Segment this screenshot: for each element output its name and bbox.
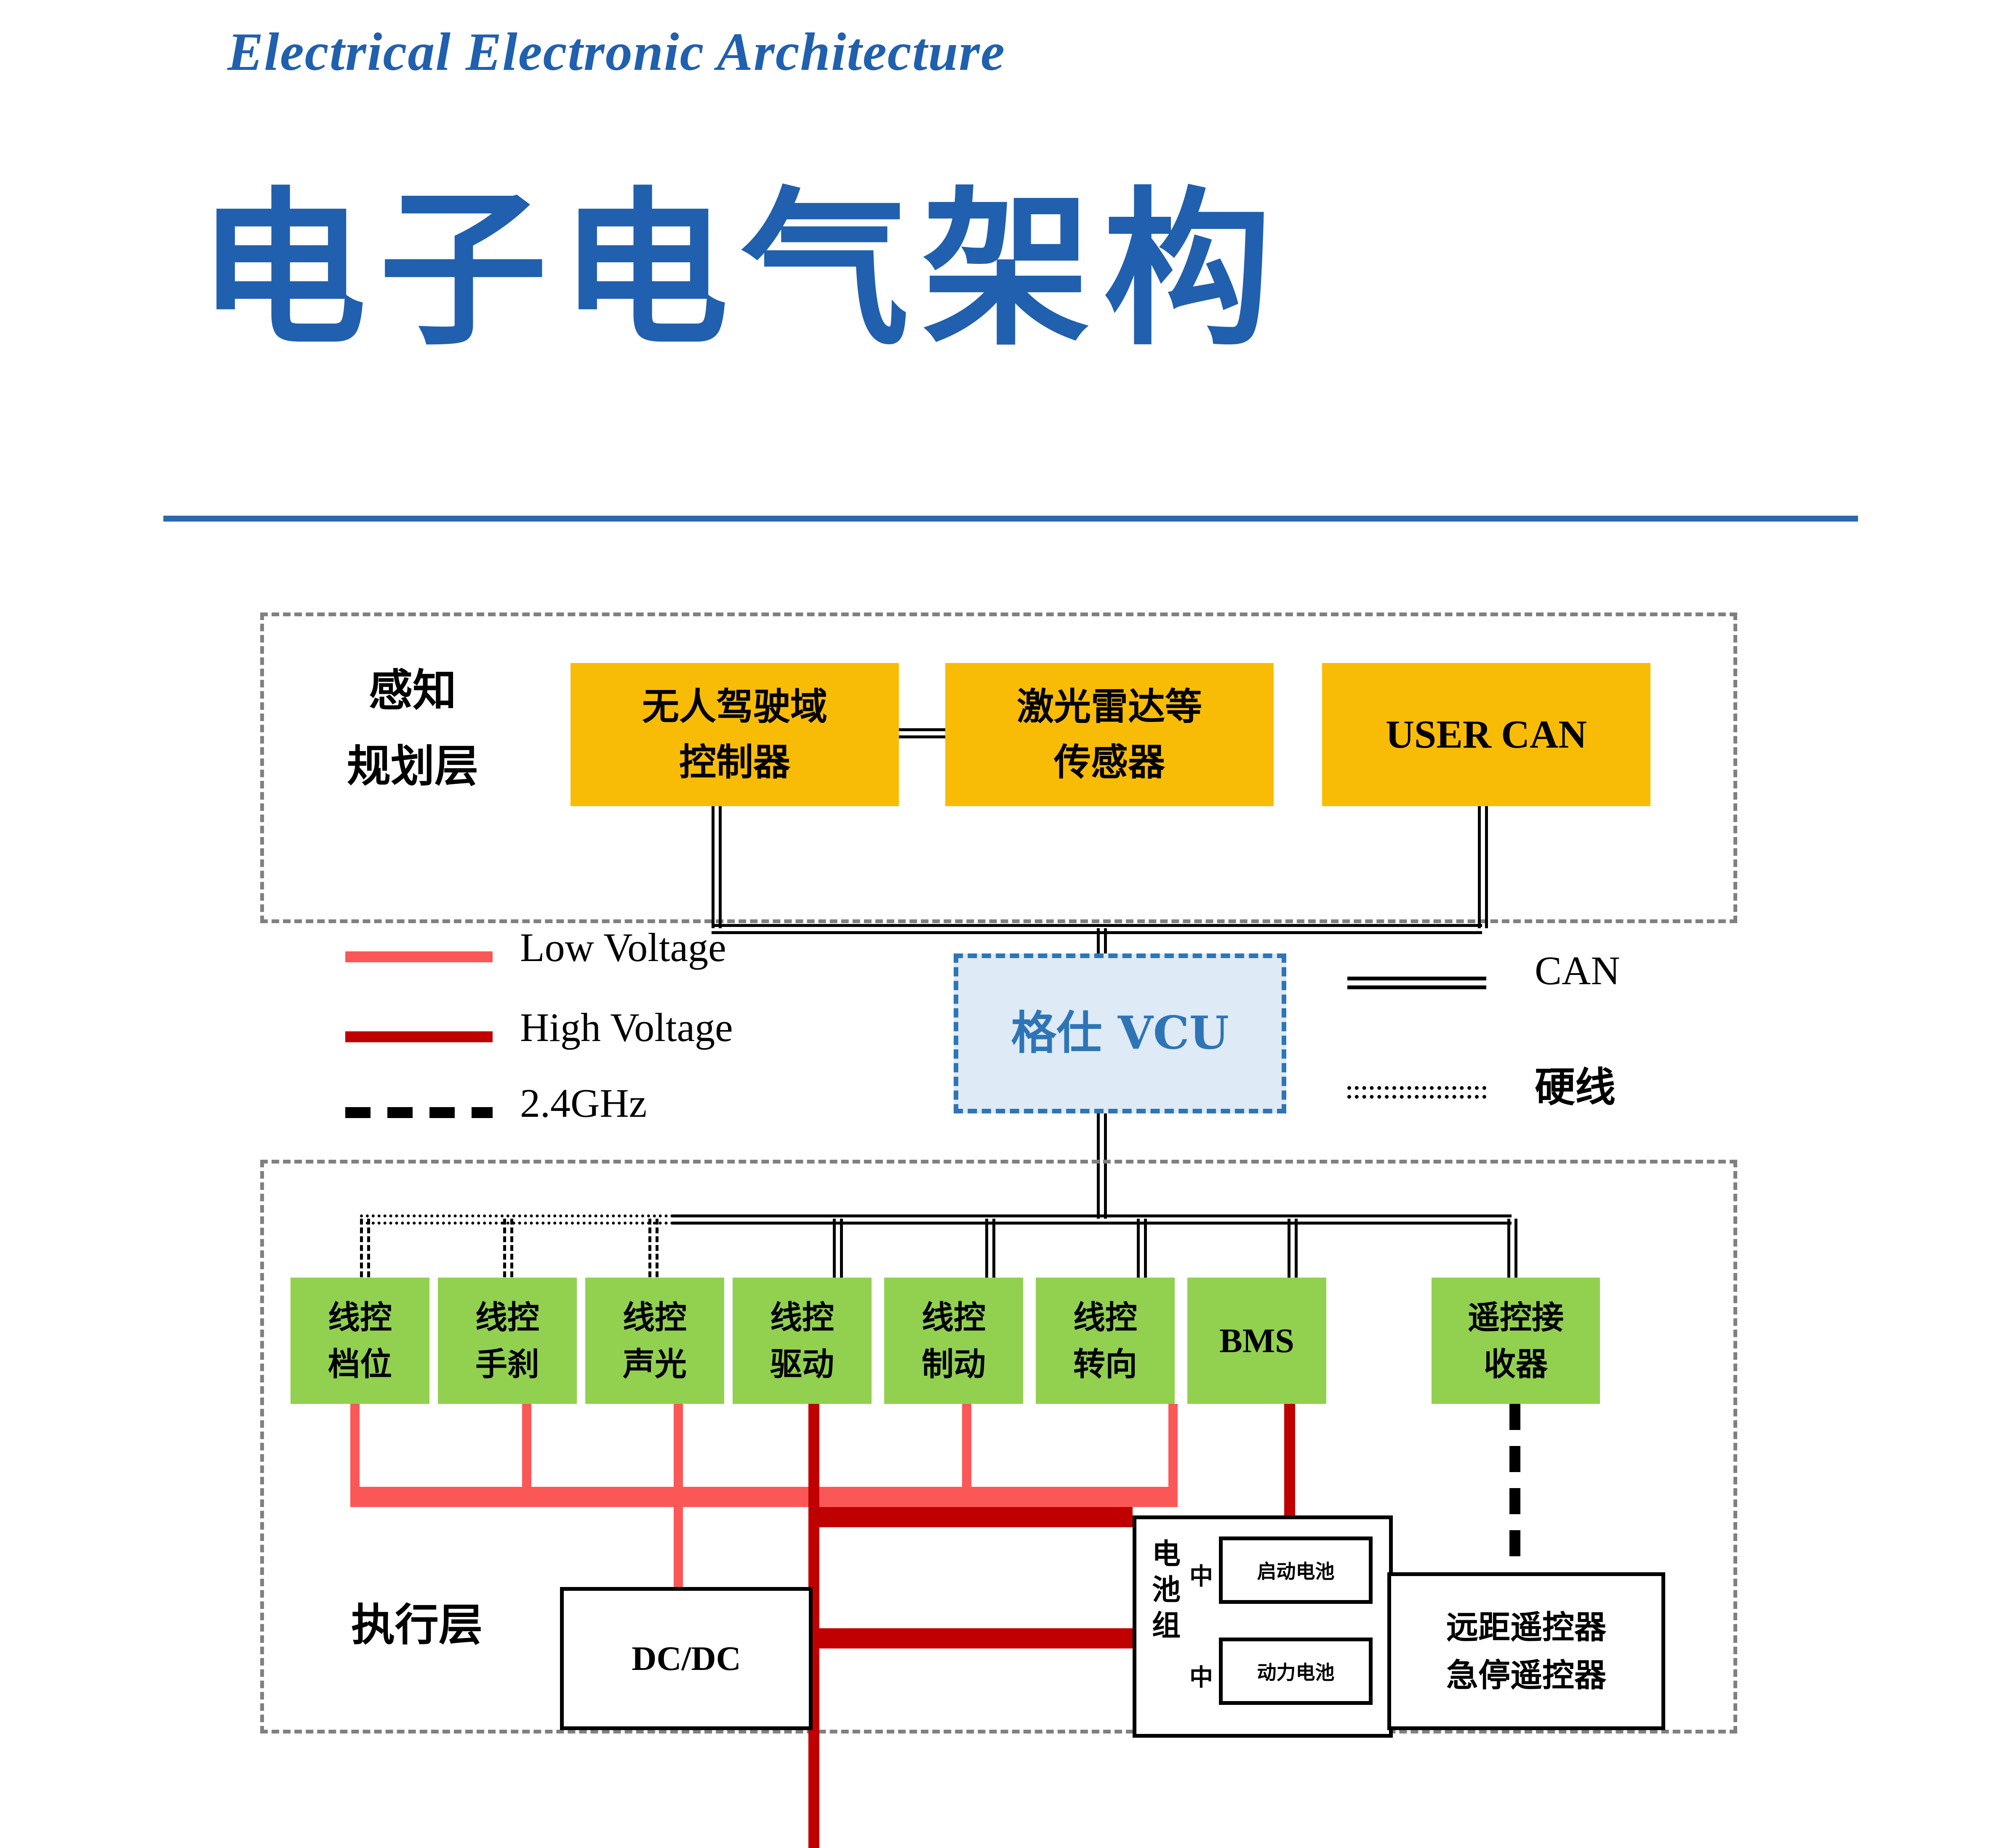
- lv-drop-brake: [962, 1404, 971, 1494]
- node-ebrake-line2: 手刹: [475, 1345, 539, 1383]
- hv-drive-to-battery: [808, 1507, 1133, 1527]
- battery-pack-side-label: 电池组: [1147, 1536, 1185, 1644]
- lv-drop-steer: [1168, 1404, 1178, 1494]
- can-link-adc-lidar: [899, 728, 945, 738]
- legend-swatch-hardwire: [1347, 1086, 1486, 1099]
- node-rxrf-line2: 收器: [1468, 1345, 1564, 1383]
- node-steer[interactable]: 线控 转向: [1036, 1278, 1175, 1404]
- node-lidar-sensors[interactable]: 激光雷达等 传感器: [945, 663, 1274, 806]
- legend-swatch-high-voltage: [345, 1031, 493, 1042]
- node-remote-line2: 急停遥控器: [1446, 1656, 1606, 1694]
- node-steer-line1: 线控: [1073, 1298, 1137, 1337]
- can-drop-brake: [985, 1219, 995, 1286]
- legend-label-can: CAN: [1535, 947, 1620, 994]
- node-gear-line2: 档位: [328, 1345, 392, 1383]
- node-ebrake-line1: 线控: [475, 1298, 539, 1337]
- node-remote-line1: 远距遥控器: [1446, 1608, 1606, 1646]
- legend-swatch-can: [1347, 977, 1486, 989]
- node-light-line1: 线控: [623, 1298, 687, 1337]
- node-adc-line1: 无人驾驶域: [642, 684, 827, 729]
- node-brake-line2: 制动: [922, 1345, 986, 1383]
- perception-label-line1: 感知: [324, 661, 501, 720]
- legend-swatch-low-voltage: [345, 951, 493, 962]
- node-ebrake[interactable]: 线控 手刹: [438, 1278, 577, 1404]
- title-divider: [163, 516, 1858, 522]
- node-bms[interactable]: BMS: [1187, 1278, 1326, 1404]
- battery-cell-start[interactable]: 启动电池: [1219, 1536, 1373, 1604]
- battery-plug-icon-traction: 中: [1189, 1659, 1213, 1693]
- node-steer-line2: 转向: [1073, 1345, 1137, 1383]
- hardwire-bus: [360, 1214, 674, 1225]
- node-vcu[interactable]: 格仕 VCU: [954, 953, 1286, 1113]
- hardwire-drop-light: [648, 1219, 659, 1286]
- can-drop-adc: [712, 806, 722, 928]
- node-rxrf-line1: 遥控接: [1468, 1298, 1564, 1337]
- node-rf-receiver[interactable]: 遥控接 收器: [1432, 1278, 1600, 1404]
- node-light[interactable]: 线控 声光: [585, 1278, 724, 1404]
- node-dcdc-label: DC/DC: [632, 1638, 741, 1679]
- hardwire-drop-ebrake: [503, 1219, 513, 1286]
- battery-cell-traction[interactable]: 动力电池: [1219, 1638, 1373, 1705]
- node-gear[interactable]: 线控 档位: [291, 1278, 429, 1404]
- can-drop-bms: [1288, 1219, 1298, 1286]
- perception-layer-label: 感知 规划层: [324, 661, 501, 796]
- chinese-title: 电子电气架构: [198, 181, 1545, 366]
- node-brake[interactable]: 线控 制动: [884, 1278, 1023, 1404]
- can-bus-execution: [672, 1214, 1512, 1225]
- rf-24ghz-link: [1509, 1404, 1520, 1572]
- node-vcu-label: 格仕 VCU: [1011, 1006, 1229, 1061]
- node-gear-line1: 线控: [328, 1298, 392, 1337]
- node-brake-line1: 线控: [922, 1298, 986, 1337]
- can-drop-drive: [833, 1219, 843, 1286]
- can-drop-user-can: [1478, 806, 1488, 928]
- node-drive[interactable]: 线控 驱动: [733, 1278, 872, 1404]
- node-lidar-line2: 传感器: [1017, 740, 1202, 785]
- legend-label-rf-24ghz: 2.4GHz: [520, 1080, 647, 1126]
- perception-label-line2: 规划层: [324, 737, 501, 796]
- execution-layer-label: 执行层: [328, 1595, 505, 1654]
- node-drive-line1: 线控: [770, 1298, 834, 1337]
- node-adc-line2: 控制器: [642, 740, 827, 785]
- legend-label-hardwire: 硬线: [1535, 1054, 1616, 1113]
- legend-label-low-voltage: Low Voltage: [520, 924, 726, 971]
- hv-drop-bms: [1284, 1404, 1295, 1524]
- battery-plug-icon-start: 中: [1189, 1558, 1213, 1592]
- lv-drop-light: [674, 1404, 683, 1494]
- node-user-can[interactable]: USER CAN: [1322, 663, 1650, 806]
- lv-drop-ebrake: [522, 1404, 531, 1494]
- can-drop-steer: [1137, 1219, 1147, 1286]
- hv-dcdc-to-battery: [808, 1628, 1133, 1648]
- can-drop-rxrf: [1507, 1219, 1517, 1286]
- hardwire-drop-gear: [360, 1219, 370, 1286]
- legend-swatch-rf-24ghz: [345, 1107, 493, 1118]
- lv-bus: [350, 1487, 1178, 1507]
- node-dcdc[interactable]: DC/DC: [560, 1587, 813, 1730]
- node-light-line2: 声光: [623, 1345, 687, 1383]
- node-drive-line2: 驱动: [770, 1345, 834, 1383]
- node-lidar-line1: 激光雷达等: [1017, 684, 1202, 729]
- node-bms-label: BMS: [1219, 1320, 1294, 1361]
- legend-label-high-voltage: High Voltage: [520, 1004, 733, 1051]
- lv-drop-gear: [350, 1404, 360, 1494]
- node-adc[interactable]: 无人驾驶域 控制器: [571, 663, 899, 806]
- node-remote-controllers[interactable]: 远距遥控器 急停遥控器: [1387, 1572, 1665, 1730]
- node-user-can-label: USER CAN: [1386, 711, 1587, 759]
- english-title: Electrical Electronic Architecture: [227, 21, 1154, 84]
